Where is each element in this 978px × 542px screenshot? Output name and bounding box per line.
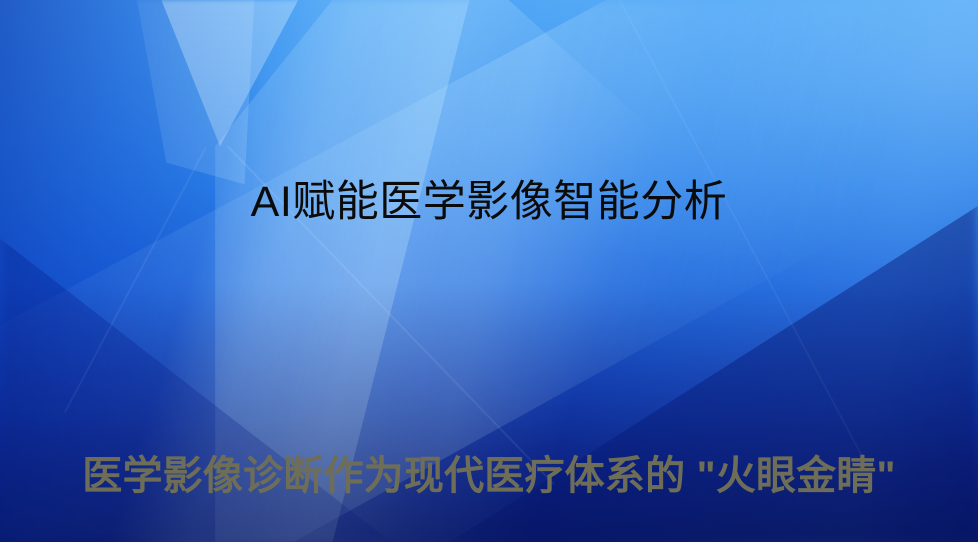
- slide-subtitle: 医学影像诊断作为现代医疗体系的 "火眼金睛": [0, 454, 978, 498]
- presentation-slide: AI赋能医学影像智能分析 医学影像诊断作为现代医疗体系的 "火眼金睛": [0, 0, 978, 542]
- slide-title: AI赋能医学影像智能分析: [0, 178, 978, 227]
- background-crease-line: [619, 0, 864, 460]
